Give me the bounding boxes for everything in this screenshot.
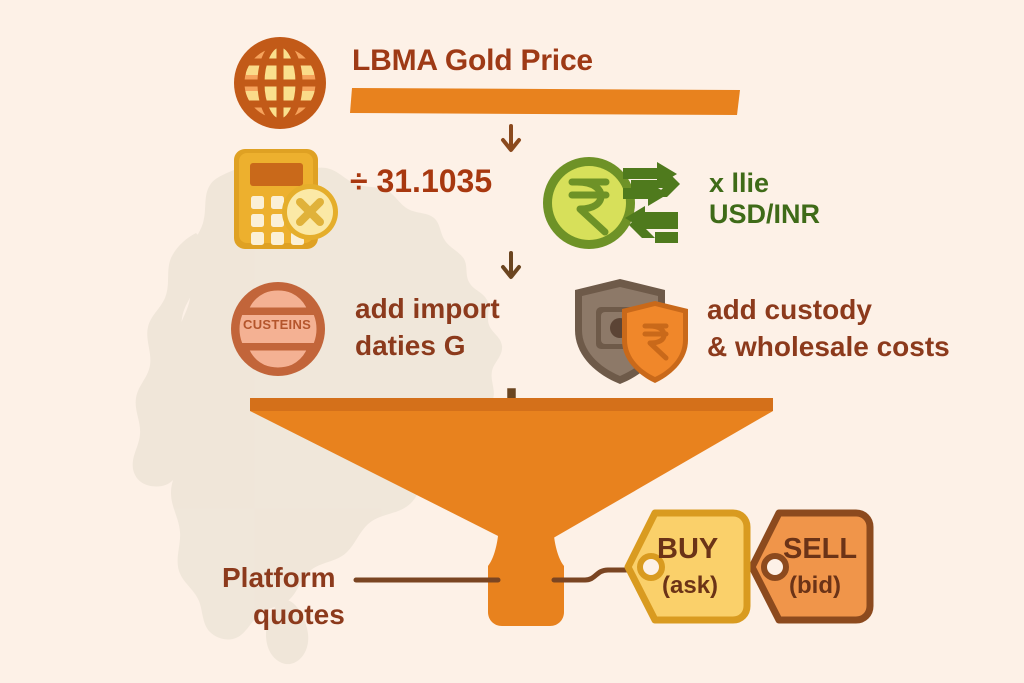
sell-tag[interactable] xyxy=(752,513,870,620)
buy-tag-subtitle: (ask) xyxy=(662,573,718,600)
sell-tag-subtitle: (bid) xyxy=(789,573,841,600)
arrow-2 xyxy=(503,253,519,277)
fx-label-line2: USD/INR xyxy=(709,199,820,229)
divide-label: ÷ 31.1035 xyxy=(350,164,492,200)
platform-quotes-label-line2: quotes xyxy=(253,599,345,630)
custody-label-line1: add custody xyxy=(707,294,872,325)
import-duties-label-line1: add import xyxy=(355,293,500,324)
safe-shield-icon xyxy=(575,279,688,384)
calculator-icon xyxy=(234,149,338,249)
custody-label-line2: & wholesale costs xyxy=(707,331,950,362)
buy-tag-title: BUY xyxy=(657,533,718,565)
customs-stamp-label: CUSTEINS xyxy=(243,318,311,333)
arrow-1 xyxy=(503,126,519,150)
globe-icon xyxy=(234,37,326,129)
infographic-canvas: LBMA Gold Price ÷ 31.1035 x llie USD/INR… xyxy=(0,0,1024,683)
fx-label-line1: x llie xyxy=(709,168,769,198)
buy-tag[interactable] xyxy=(628,513,747,620)
platform-quotes-label-line1: Platform xyxy=(222,562,336,593)
import-duties-label-line2: daties G xyxy=(355,330,465,361)
page-title: LBMA Gold Price xyxy=(352,44,593,78)
sell-tag-title: SELL xyxy=(783,533,857,565)
rupee-coin-icon xyxy=(543,157,635,249)
title-underline-bar xyxy=(350,88,740,115)
